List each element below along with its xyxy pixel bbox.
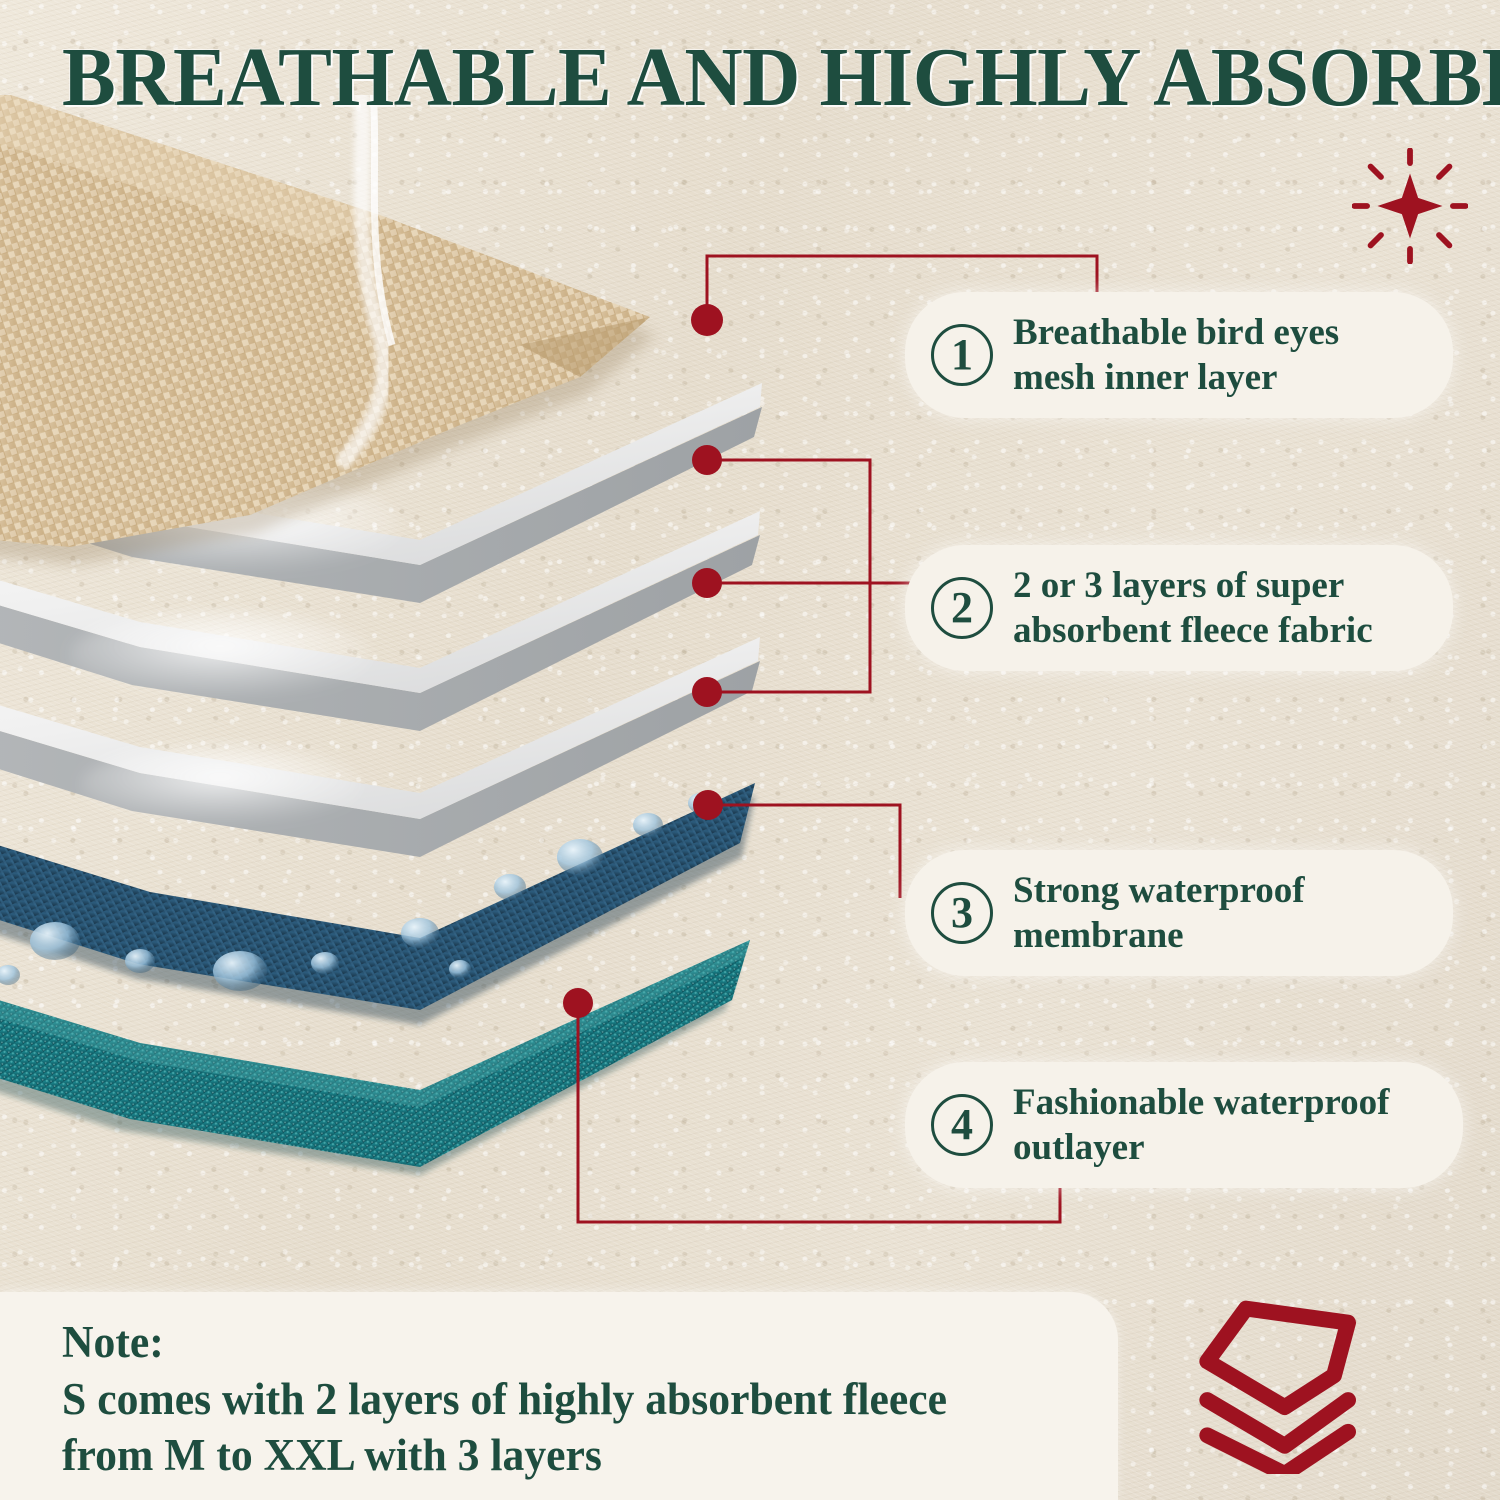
callout-3-label: Strong waterproof membrane xyxy=(1013,868,1305,958)
note-text: Note: S comes with 2 layers of highly ab… xyxy=(62,1314,1071,1484)
callout-4[interactable]: 4 Fashionable waterproof outlayer xyxy=(905,1062,1463,1188)
callout-3-number: 3 xyxy=(931,882,993,944)
callout-2[interactable]: 2 2 or 3 layers of super absorbent fleec… xyxy=(905,545,1453,671)
callout-2-label: 2 or 3 layers of super absorbent fleece … xyxy=(1013,563,1373,653)
sparkle-icon xyxy=(1352,148,1468,264)
callout-1-number: 1 xyxy=(931,324,993,386)
callout-4-label: Fashionable waterproof outlayer xyxy=(1013,1080,1390,1170)
callout-2-number: 2 xyxy=(931,577,993,639)
callout-1-label: Breathable bird eyes mesh inner layer xyxy=(1013,310,1339,400)
callout-1[interactable]: 1 Breathable bird eyes mesh inner layer xyxy=(905,292,1453,418)
note-panel: Note: S comes with 2 layers of highly ab… xyxy=(0,1292,1118,1500)
callout-4-number: 4 xyxy=(931,1094,993,1156)
fabric-layers-illustration xyxy=(0,95,820,1225)
layers-stack-icon xyxy=(1192,1298,1388,1474)
page-title: BREATHABLE AND HIGHLY ABSORBENT xyxy=(62,36,1406,120)
infographic-canvas: BREATHABLE AND HIGHLY ABSORBENT 1 Breath… xyxy=(0,0,1500,1500)
callout-3[interactable]: 3 Strong waterproof membrane xyxy=(905,850,1453,976)
